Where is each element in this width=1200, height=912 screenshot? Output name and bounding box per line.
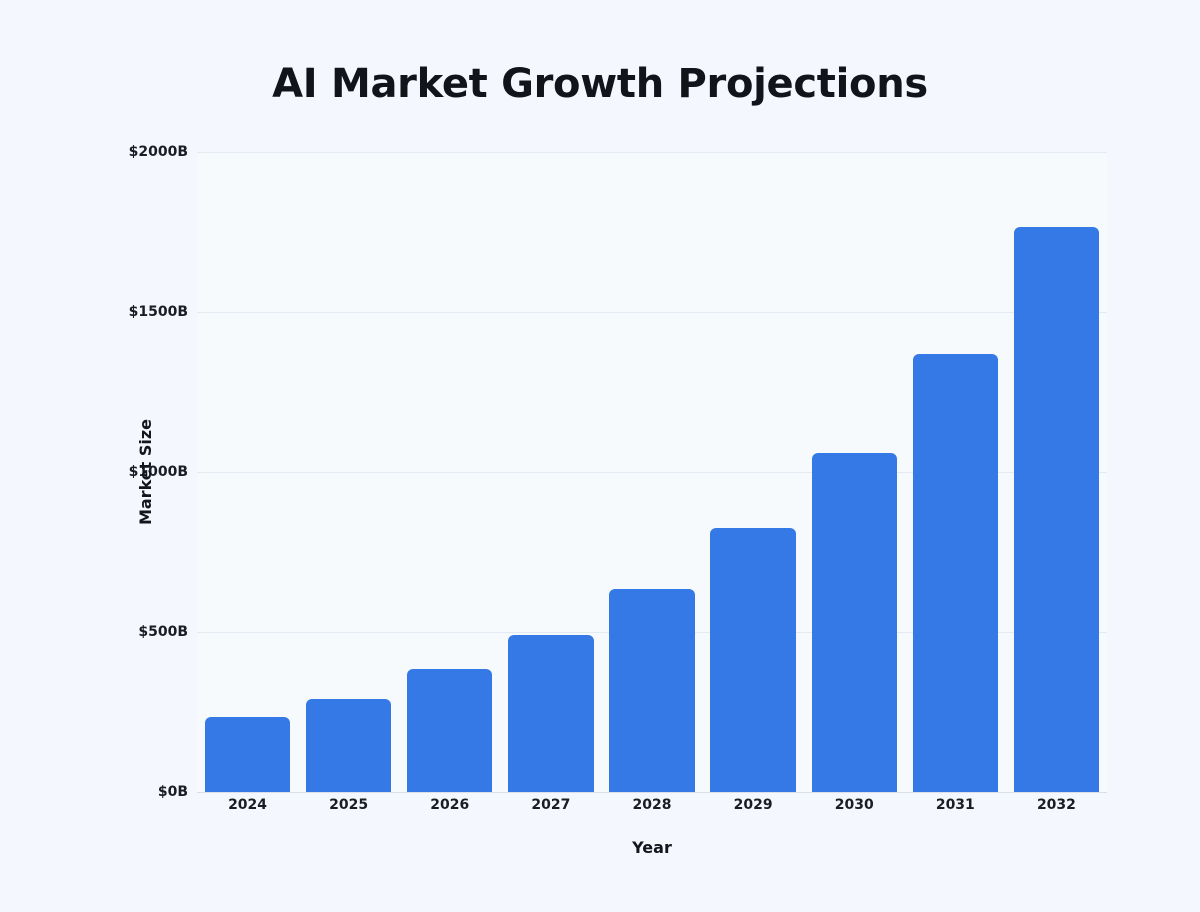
y-axis-title-wrapper: Market Size (56, 377, 86, 567)
x-axis-tick-label: 2024 (197, 797, 298, 813)
bar[interactable] (710, 528, 795, 792)
gridline (197, 792, 1107, 793)
x-axis-tick-label: 2030 (804, 797, 905, 813)
bar[interactable] (407, 669, 492, 792)
bar-slot (609, 152, 694, 792)
bar-series (197, 152, 1107, 792)
y-axis-tick-label: $1500B (28, 304, 188, 320)
bar[interactable] (1014, 227, 1099, 792)
chart-page: AI Market Growth Projections $0B$500B$10… (0, 0, 1200, 912)
bar-slot (508, 152, 593, 792)
bar[interactable] (812, 453, 897, 792)
bar-slot (407, 152, 492, 792)
bar-slot (710, 152, 795, 792)
bar[interactable] (508, 635, 593, 792)
x-axis-tick-label: 2027 (500, 797, 601, 813)
x-axis-tick-label: 2028 (601, 797, 702, 813)
x-axis-tick-label: 2029 (703, 797, 804, 813)
bar[interactable] (913, 354, 998, 792)
bar-slot (913, 152, 998, 792)
bar[interactable] (306, 699, 391, 792)
bar-slot (812, 152, 897, 792)
x-axis-tick-label: 2026 (399, 797, 500, 813)
x-axis-tick-label: 2032 (1006, 797, 1107, 813)
y-axis-tick-label: $2000B (28, 144, 188, 160)
y-axis-title: Market Size (50, 377, 240, 567)
bar[interactable] (205, 717, 290, 792)
y-axis-tick-label: $0B (28, 784, 188, 800)
x-axis-tick-label: 2031 (905, 797, 1006, 813)
bar-slot (1014, 152, 1099, 792)
y-axis-tick-label: $500B (28, 624, 188, 640)
page-title: AI Market Growth Projections (0, 62, 1200, 106)
bar-slot (306, 152, 391, 792)
bar[interactable] (609, 589, 694, 792)
x-axis-title: Year (197, 838, 1107, 857)
plot-area (197, 152, 1107, 792)
x-axis-tick-label: 2025 (298, 797, 399, 813)
